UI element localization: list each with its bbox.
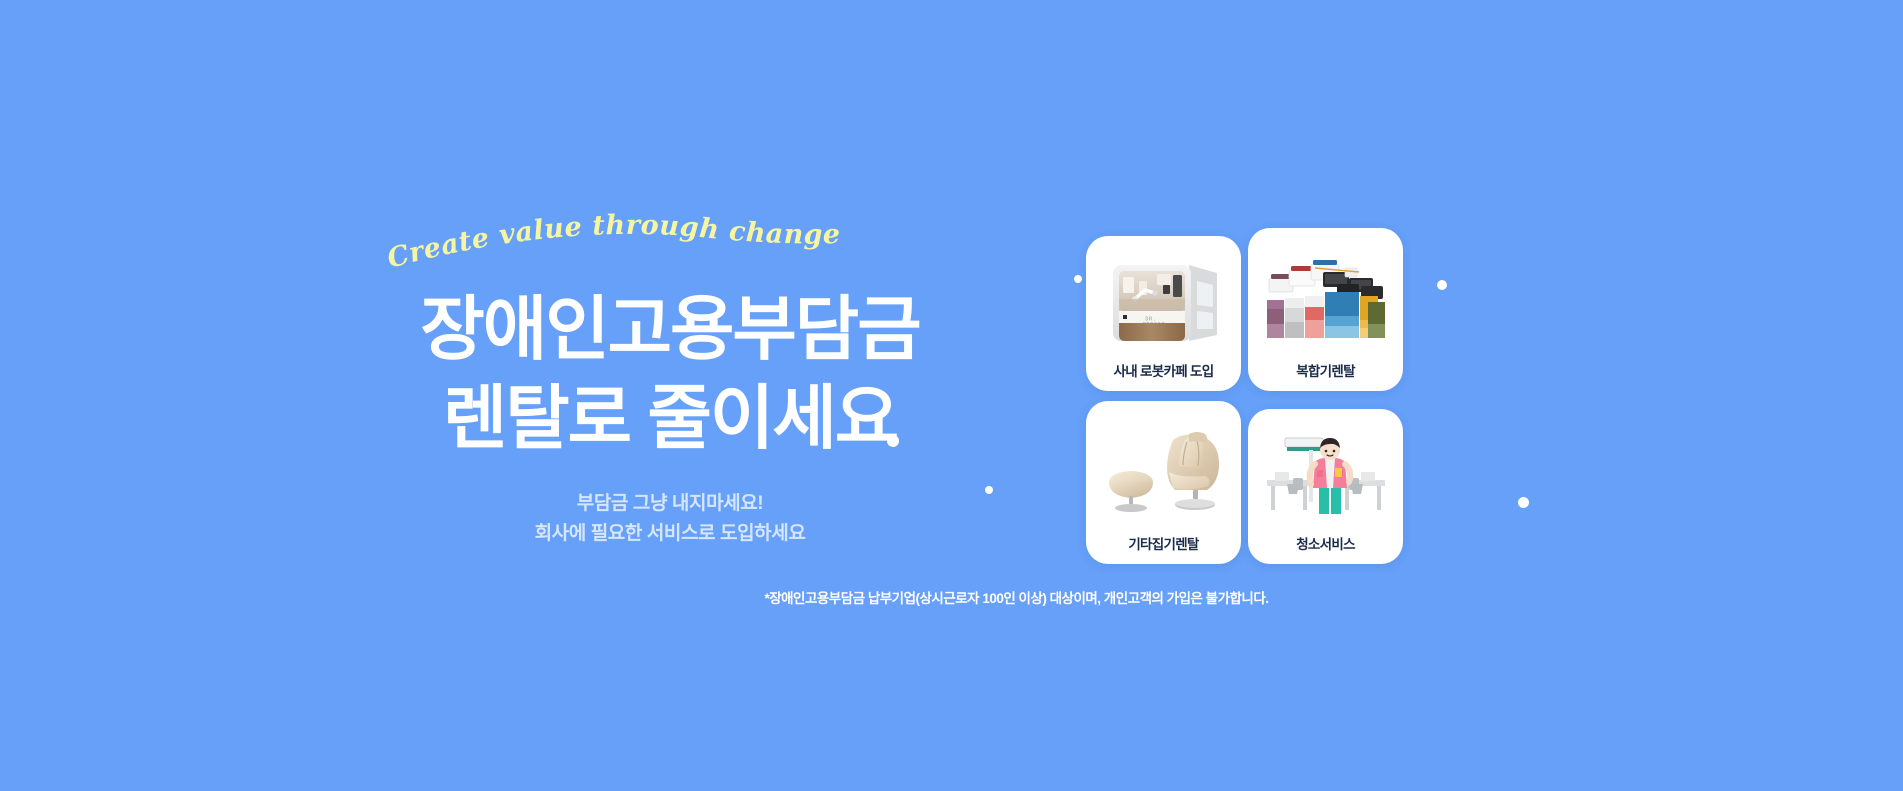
multifunction-printer-icon [1248, 228, 1403, 360]
decorative-dot [1518, 497, 1529, 508]
product-card-furniture-rental[interactable]: 기타집기렌탈 [1086, 401, 1241, 564]
cleaning-service-icon [1248, 409, 1403, 533]
headline-line-1: 장애인고용부담금 [420, 290, 919, 368]
product-card-grid: DR. PRESSO 사내 로봇카페 도입 [1086, 236, 1406, 568]
hero-text-block: Create value through change 장애인고용부담금 렌탈로… [340, 230, 1000, 548]
decorative-dot [1437, 280, 1447, 290]
product-card-label: 청소서비스 [1296, 533, 1355, 564]
disclaimer-text: *장애인고용부담금 납부기업(상시근로자 100인 이상) 대상이며, 개인고객… [0, 587, 1903, 607]
page-title: 장애인고용부담금 렌탈로 줄이세요 [340, 288, 1000, 459]
headline-line-2: 렌탈로 줄이세요 [340, 377, 1000, 460]
product-card-label: 기타집기렌탈 [1128, 533, 1198, 564]
script-tagline-text: Create value through change [384, 210, 841, 275]
script-tagline: Create value through change [380, 212, 960, 292]
subtitle-line-2: 회사에 필요한 서비스로 도입하세요 [340, 519, 1000, 548]
product-card-robot-cafe[interactable]: DR. PRESSO 사내 로봇카페 도입 [1086, 236, 1241, 391]
decorative-dot [1074, 275, 1082, 283]
script-tagline-svg: Create value through change [380, 212, 960, 292]
product-card-printer-rental[interactable]: 복합기렌탈 [1248, 228, 1403, 391]
hero-subtitle: 부담금 그냥 내지마세요! 회사에 필요한 서비스로 도입하세요 [340, 489, 1000, 548]
subtitle-line-1: 부담금 그냥 내지마세요! [340, 489, 1000, 518]
product-card-label: 사내 로봇카페 도입 [1114, 360, 1214, 391]
product-card-label: 복합기렌탈 [1296, 360, 1355, 391]
disclaimer-inner: *장애인고용부담금 납부기업(상시근로자 100인 이상) 대상이며, 개인고객… [764, 587, 1268, 607]
product-card-cleaning-service[interactable]: 청소서비스 [1248, 409, 1403, 564]
robot-cafe-kiosk-icon: DR. PRESSO [1086, 236, 1241, 360]
promo-banner: Create value through change 장애인고용부담금 렌탈로… [0, 0, 1903, 791]
massage-chair-icon [1086, 401, 1241, 533]
